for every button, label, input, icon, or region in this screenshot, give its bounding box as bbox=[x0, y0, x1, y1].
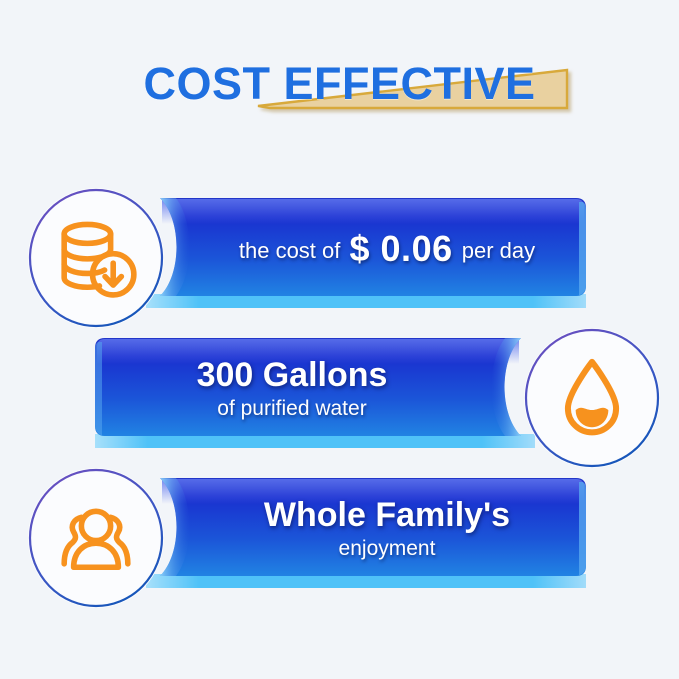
coin-stack-down-arrow-icon bbox=[53, 215, 139, 301]
cost-prefix: the cost of bbox=[239, 238, 341, 263]
cost-line: the cost of $ 0.06 per day bbox=[239, 230, 535, 268]
cost-effective-infographic: COST EFFECTIVE bbox=[0, 0, 679, 679]
gallons-secondary: of purified water bbox=[217, 398, 366, 420]
gallons-primary: 300 Gallons bbox=[197, 358, 388, 394]
title-banner: COST EFFECTIVE bbox=[0, 44, 679, 124]
icon-bubble-cost bbox=[28, 188, 164, 328]
banner-text-cost: the cost of $ 0.06 per day bbox=[150, 194, 580, 304]
family-primary: Whole Family's bbox=[264, 498, 510, 534]
water-drop-icon bbox=[549, 355, 635, 441]
banner-text-gallons: 300 Gallons of purified water bbox=[99, 334, 529, 444]
feature-row-family: Whole Family's enjoyment bbox=[0, 460, 679, 610]
feature-banner-family: Whole Family's enjoyment bbox=[150, 474, 580, 600]
family-secondary: enjoyment bbox=[339, 538, 436, 560]
cost-amount: $ 0.06 bbox=[347, 228, 456, 269]
family-group-icon bbox=[53, 495, 139, 581]
feature-banner-gallons: 300 Gallons of purified water bbox=[99, 334, 529, 460]
feature-row-cost: the cost of $ 0.06 per day bbox=[0, 180, 679, 330]
banner-text-family: Whole Family's enjoyment bbox=[150, 474, 580, 584]
icon-bubble-water bbox=[524, 328, 660, 468]
page-title: COST EFFECTIVE bbox=[0, 44, 679, 124]
cost-suffix: per day bbox=[462, 238, 535, 263]
feature-row-gallons: 300 Gallons of purified water bbox=[0, 320, 679, 470]
feature-banner-cost: the cost of $ 0.06 per day bbox=[150, 194, 580, 320]
icon-bubble-family bbox=[28, 468, 164, 608]
